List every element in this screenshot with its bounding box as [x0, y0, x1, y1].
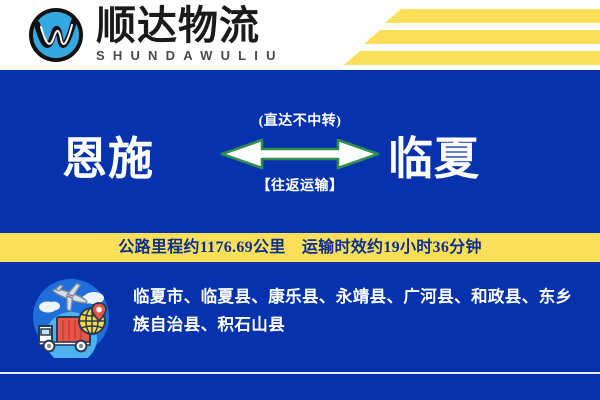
swoosh-circle-logo-icon	[27, 6, 85, 64]
coverage-section: 临夏市、临夏县、康乐县、永靖县、广河县、和政县、东乡族自治县、积石山县	[0, 262, 600, 372]
stripe-1	[385, 9, 600, 23]
stripe-2	[364, 30, 600, 44]
brand-header: 顺达物流 SHUNDAWULIU	[0, 0, 600, 70]
brand-name-block: 顺达物流 SHUNDAWULIU	[96, 5, 296, 63]
direct-service-note: (直达不中转)	[218, 114, 382, 130]
route-section: 恩施 (直达不中转) 【往返运输】 临夏	[0, 70, 600, 233]
roundtrip-note: 【往返运输】	[218, 179, 382, 195]
logistics-route-banner: 顺达物流 SHUNDAWULIU 恩施 (直达不中转) 【往返运输】 临夏 公路…	[0, 0, 600, 400]
destination-city: 临夏	[388, 135, 480, 183]
footer-strip	[0, 374, 600, 400]
truck-plane-globe-icon	[30, 276, 112, 358]
route-middle-block: (直达不中转) 【往返运输】	[218, 114, 382, 195]
decorative-stripes	[330, 0, 600, 70]
coverage-areas-text: 临夏市、临夏县、康乐县、永靖县、广河县、和政县、东乡族自治县、积石山县	[133, 283, 575, 339]
origin-city: 恩施	[62, 135, 154, 183]
distance-duration-bar: 公路里程约1176.69公里 运输时效约19小时36分钟	[0, 233, 600, 262]
brand-name-en: SHUNDAWULIU	[96, 48, 296, 63]
bidirectional-arrow-icon	[218, 137, 382, 173]
brand-name-cn: 顺达物流	[96, 5, 296, 47]
stripe-3	[344, 51, 600, 65]
distance-duration-text: 公路里程约1176.69公里 运输时效约19小时36分钟	[118, 239, 482, 257]
